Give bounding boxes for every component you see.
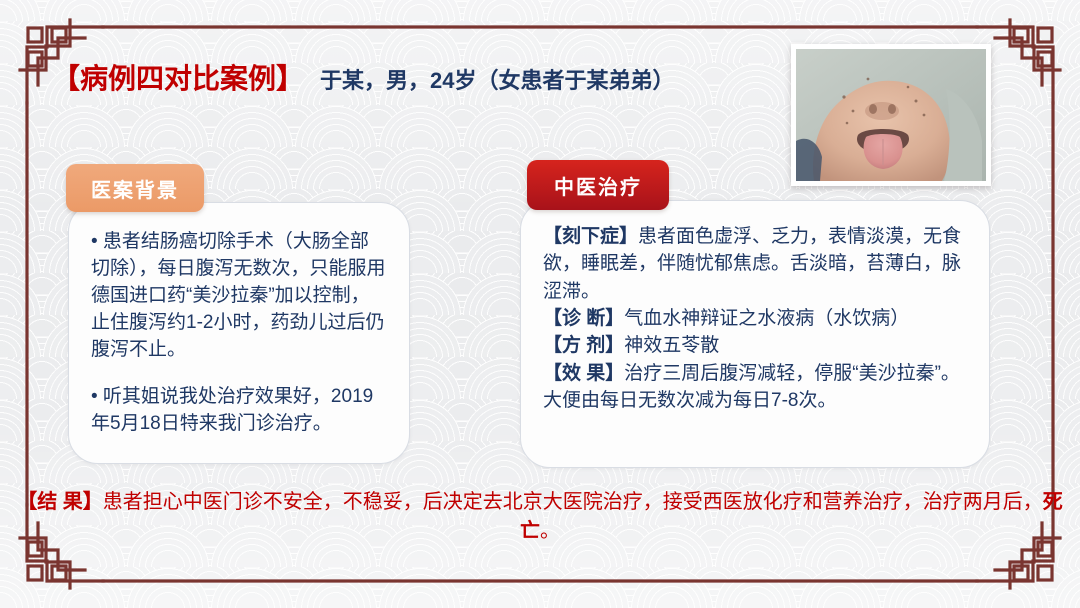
slide-canvas: 【病例四对比案例】 于某，男，24岁（女患者于某弟弟） bbox=[0, 0, 1080, 608]
patient-photo bbox=[796, 49, 986, 181]
medical-background-paragraph: • 患者结肠癌切除手术（大肠全部切除），每日腹泻无数次，只能服用德国进口药“美沙… bbox=[91, 229, 387, 364]
tab-medical-background-label: 医案背景 bbox=[91, 174, 179, 203]
medical-background-body: • 患者结肠癌切除手术（大肠全部切除），每日腹泻无数次，只能服用德国进口药“美沙… bbox=[91, 229, 387, 438]
patient-photo-frame bbox=[791, 44, 991, 186]
tcm-line-effect: 【效 果】治疗三周后腹泻减轻，停服“美沙拉秦”。大便由每日无数次减为每日7-8次… bbox=[543, 360, 969, 415]
tcm-line-formula-label: 【方 剂】 bbox=[543, 335, 624, 356]
title-subject-text: 于某，男，24岁（女患者于某弟弟） bbox=[320, 63, 674, 95]
tcm-line-formula: 【方 剂】神效五苓散 bbox=[543, 332, 969, 359]
tcm-line-formula-text: 神效五苓散 bbox=[624, 335, 719, 356]
tcm-line-diagnosis-label: 【诊 断】 bbox=[543, 308, 624, 329]
conclusion-tail: 。 bbox=[540, 520, 560, 542]
tcm-line-symptoms-label: 【刻下症】 bbox=[543, 226, 638, 247]
tcm-line-diagnosis-text: 气血水神辩证之水液病（水饮病） bbox=[624, 308, 909, 329]
card-medical-background: • 患者结肠癌切除手术（大肠全部切除），每日腹泻无数次，只能服用德国进口药“美沙… bbox=[68, 202, 410, 464]
conclusion-text: 【结 果】患者担心中医门诊不安全，不稳妥，后决定去北京大医院治疗，接受西医放化疗… bbox=[0, 488, 1080, 546]
tcm-line-effect-label: 【效 果】 bbox=[543, 363, 624, 384]
page-title: 【病例四对比案例】 于某，男，24岁（女患者于某弟弟） bbox=[52, 57, 675, 97]
medical-background-paragraph: • 听其姐说我处治疗效果好，2019年5月18日特来我门诊治疗。 bbox=[91, 384, 387, 438]
tcm-line-diagnosis: 【诊 断】气血水神辩证之水液病（水饮病） bbox=[543, 305, 969, 332]
tongue-photo-illustration bbox=[796, 49, 986, 181]
conclusion-label: 【结 果】 bbox=[17, 491, 103, 513]
title-main-text: 【病例四对比案例】 bbox=[52, 57, 304, 97]
conclusion-body: 患者担心中医门诊不安全，不稳妥，后决定去北京大医院治疗，接受西医放化疗和营养治疗… bbox=[103, 491, 1043, 513]
card-tcm-treatment: 【刻下症】患者面色虚浮、乏力，表情淡漠，无食欲，睡眠差，伴随忧郁焦虑。舌淡暗，苔… bbox=[520, 200, 990, 468]
tab-medical-background: 医案背景 bbox=[66, 164, 204, 212]
tab-tcm-treatment: 中医治疗 bbox=[527, 160, 669, 210]
tab-tcm-treatment-label: 中医治疗 bbox=[554, 171, 642, 200]
tcm-treatment-body: 【刻下症】患者面色虚浮、乏力，表情淡漠，无食欲，睡眠差，伴随忧郁焦虑。舌淡暗，苔… bbox=[543, 223, 969, 415]
tcm-line-symptoms: 【刻下症】患者面色虚浮、乏力，表情淡漠，无食欲，睡眠差，伴随忧郁焦虑。舌淡暗，苔… bbox=[543, 223, 969, 305]
